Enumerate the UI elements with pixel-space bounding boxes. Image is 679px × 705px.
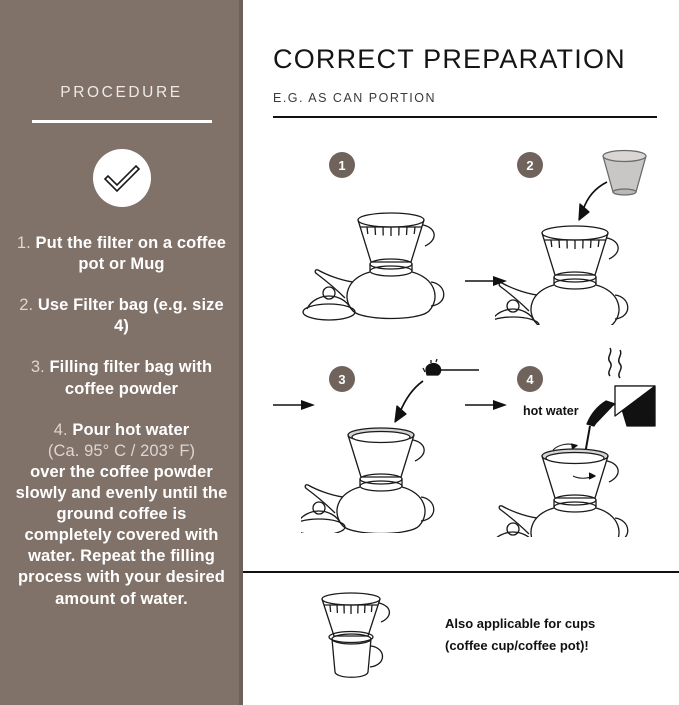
list-item: 1. Put the filter on a coffee pot or Mug	[14, 233, 229, 275]
footer-note: Also applicable for cups (coffee cup/cof…	[243, 586, 679, 696]
sidebar-title: PROCEDURE	[0, 84, 243, 102]
step-number: 1.	[17, 234, 31, 252]
page-title: CORRECT PREPARATION	[273, 46, 657, 73]
footer-divider	[243, 571, 679, 573]
check-icon	[93, 149, 151, 207]
footer-text-line2: (coffee cup/coffee pot)!	[445, 636, 589, 656]
main-content: CORRECT PREPARATION E.G. AS CAN PORTION …	[243, 0, 679, 705]
step-1-badge-wrap: 1	[329, 152, 355, 178]
step-text: Filling filter bag with coffee powder	[49, 358, 212, 397]
check-badge	[0, 149, 243, 207]
step-text: Pour hot water	[72, 421, 189, 439]
list-item: 4. Pour hot water (Ca. 95° C / 203° F) o…	[14, 420, 229, 610]
sidebar-title-rule	[32, 120, 212, 123]
header-divider	[273, 116, 657, 118]
step-1-illustration	[301, 204, 481, 324]
cup-illustration	[299, 586, 419, 691]
steps-figure-grid: 1	[273, 126, 657, 563]
step-text: Use Filter bag (e.g. size 4)	[38, 296, 224, 335]
step-number: 3.	[31, 358, 45, 376]
step-4-illustration	[495, 342, 679, 537]
step-number: 4.	[54, 421, 68, 439]
footer-text-line1: Also applicable for cups	[445, 614, 595, 634]
step-temperature: (Ca. 95° C / 203° F)	[14, 441, 229, 462]
page-subtitle: E.G. AS CAN PORTION	[273, 91, 657, 105]
list-item: 3. Filling filter bag with coffee powder	[14, 357, 229, 399]
infographic-page: PROCEDURE 1. Put the filter on a coffee …	[0, 0, 679, 705]
step-number: 2.	[19, 296, 33, 314]
step-text: Put the filter on a coffee pot or Mug	[36, 234, 227, 273]
procedure-steps-list: 1. Put the filter on a coffee pot or Mug…	[0, 233, 243, 610]
step-3-illustration	[301, 348, 491, 533]
list-item: 2. Use Filter bag (e.g. size 4)	[14, 295, 229, 337]
step-body: over the coffee powder slowly and evenly…	[16, 463, 228, 608]
procedure-sidebar: PROCEDURE 1. Put the filter on a coffee …	[0, 0, 243, 705]
step-2-illustration	[495, 140, 679, 325]
status-badge: 1	[329, 152, 355, 178]
